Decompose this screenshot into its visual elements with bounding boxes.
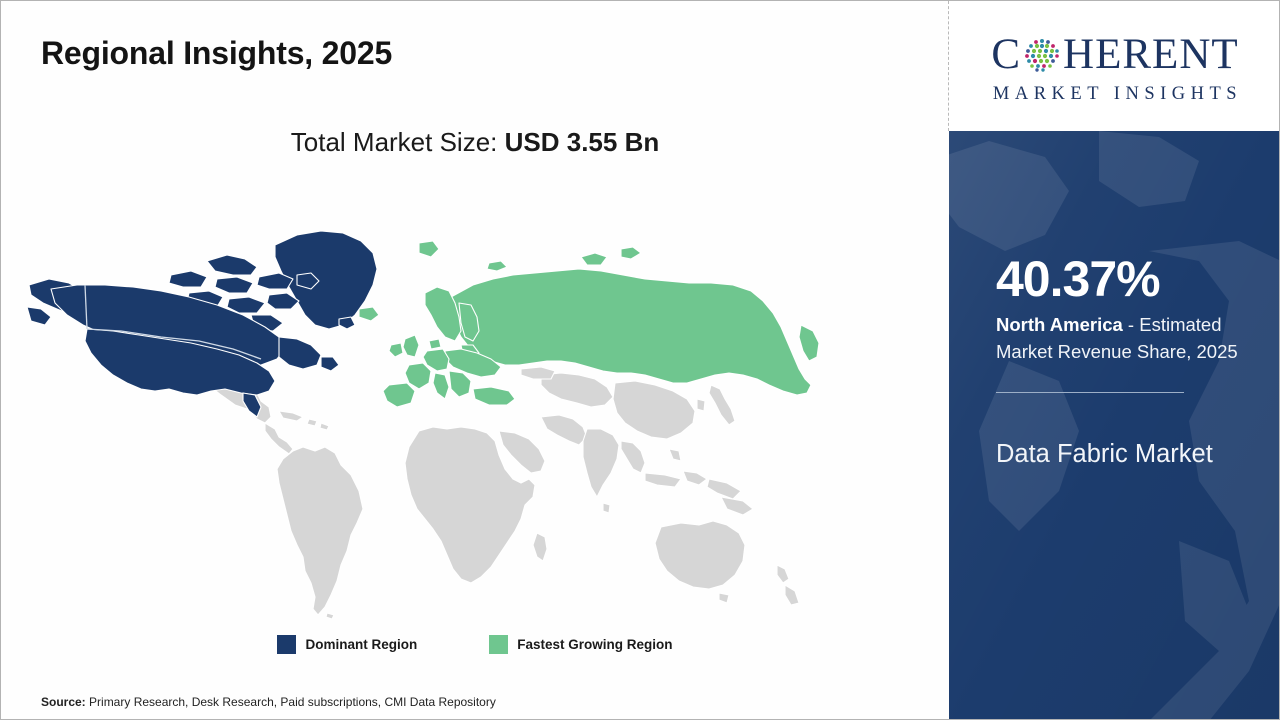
globe-dots-icon [1022, 35, 1062, 75]
square-swatch-navy [277, 635, 296, 654]
source-label: Source: [41, 695, 86, 709]
stat-value: 40.37% [996, 253, 1257, 305]
map-pane: Regional Insights, 2025 Total Market Siz… [1, 1, 949, 720]
market-size-prefix: Total Market Size: [291, 127, 505, 157]
regional-insights-infographic: Regional Insights, 2025 Total Market Siz… [0, 0, 1280, 720]
stat-panel: 40.37% North America - Estimated Market … [949, 131, 1280, 720]
square-swatch-green [489, 635, 508, 654]
panel-content: 40.37% North America - Estimated Market … [996, 253, 1257, 474]
legend-label-fastest-growing: Fastest Growing Region [517, 637, 672, 652]
stat-description: North America - Estimated Market Revenue… [996, 312, 1257, 366]
legend-item-fastest-growing: Fastest Growing Region [489, 635, 672, 654]
source-note: Source: Primary Research, Desk Research,… [41, 695, 496, 709]
legend-item-dominant: Dominant Region [277, 635, 417, 654]
panel-horizontal-rule [996, 392, 1184, 393]
brand-logo: C [949, 1, 1280, 131]
map-legend: Dominant Region Fastest Growing Region [1, 635, 949, 654]
map-region-north-america-dominant [27, 231, 377, 417]
logo-letters-herent: HERENT [1063, 33, 1239, 76]
total-market-size: Total Market Size: USD 3.55 Bn [1, 127, 949, 158]
logo-wordmark: C [991, 28, 1238, 82]
page-title: Regional Insights, 2025 [41, 35, 392, 72]
stat-region-name: North America [996, 314, 1123, 335]
logo-subtitle: MARKET INSIGHTS [988, 84, 1242, 105]
market-name: Data Fabric Market [996, 435, 1257, 474]
world-map [21, 179, 851, 624]
logo-letter-c: C [991, 33, 1021, 76]
source-text: Primary Research, Desk Research, Paid su… [86, 695, 496, 709]
world-map-svg [21, 179, 851, 624]
legend-label-dominant: Dominant Region [305, 637, 417, 652]
market-size-value: USD 3.55 Bn [505, 127, 660, 157]
